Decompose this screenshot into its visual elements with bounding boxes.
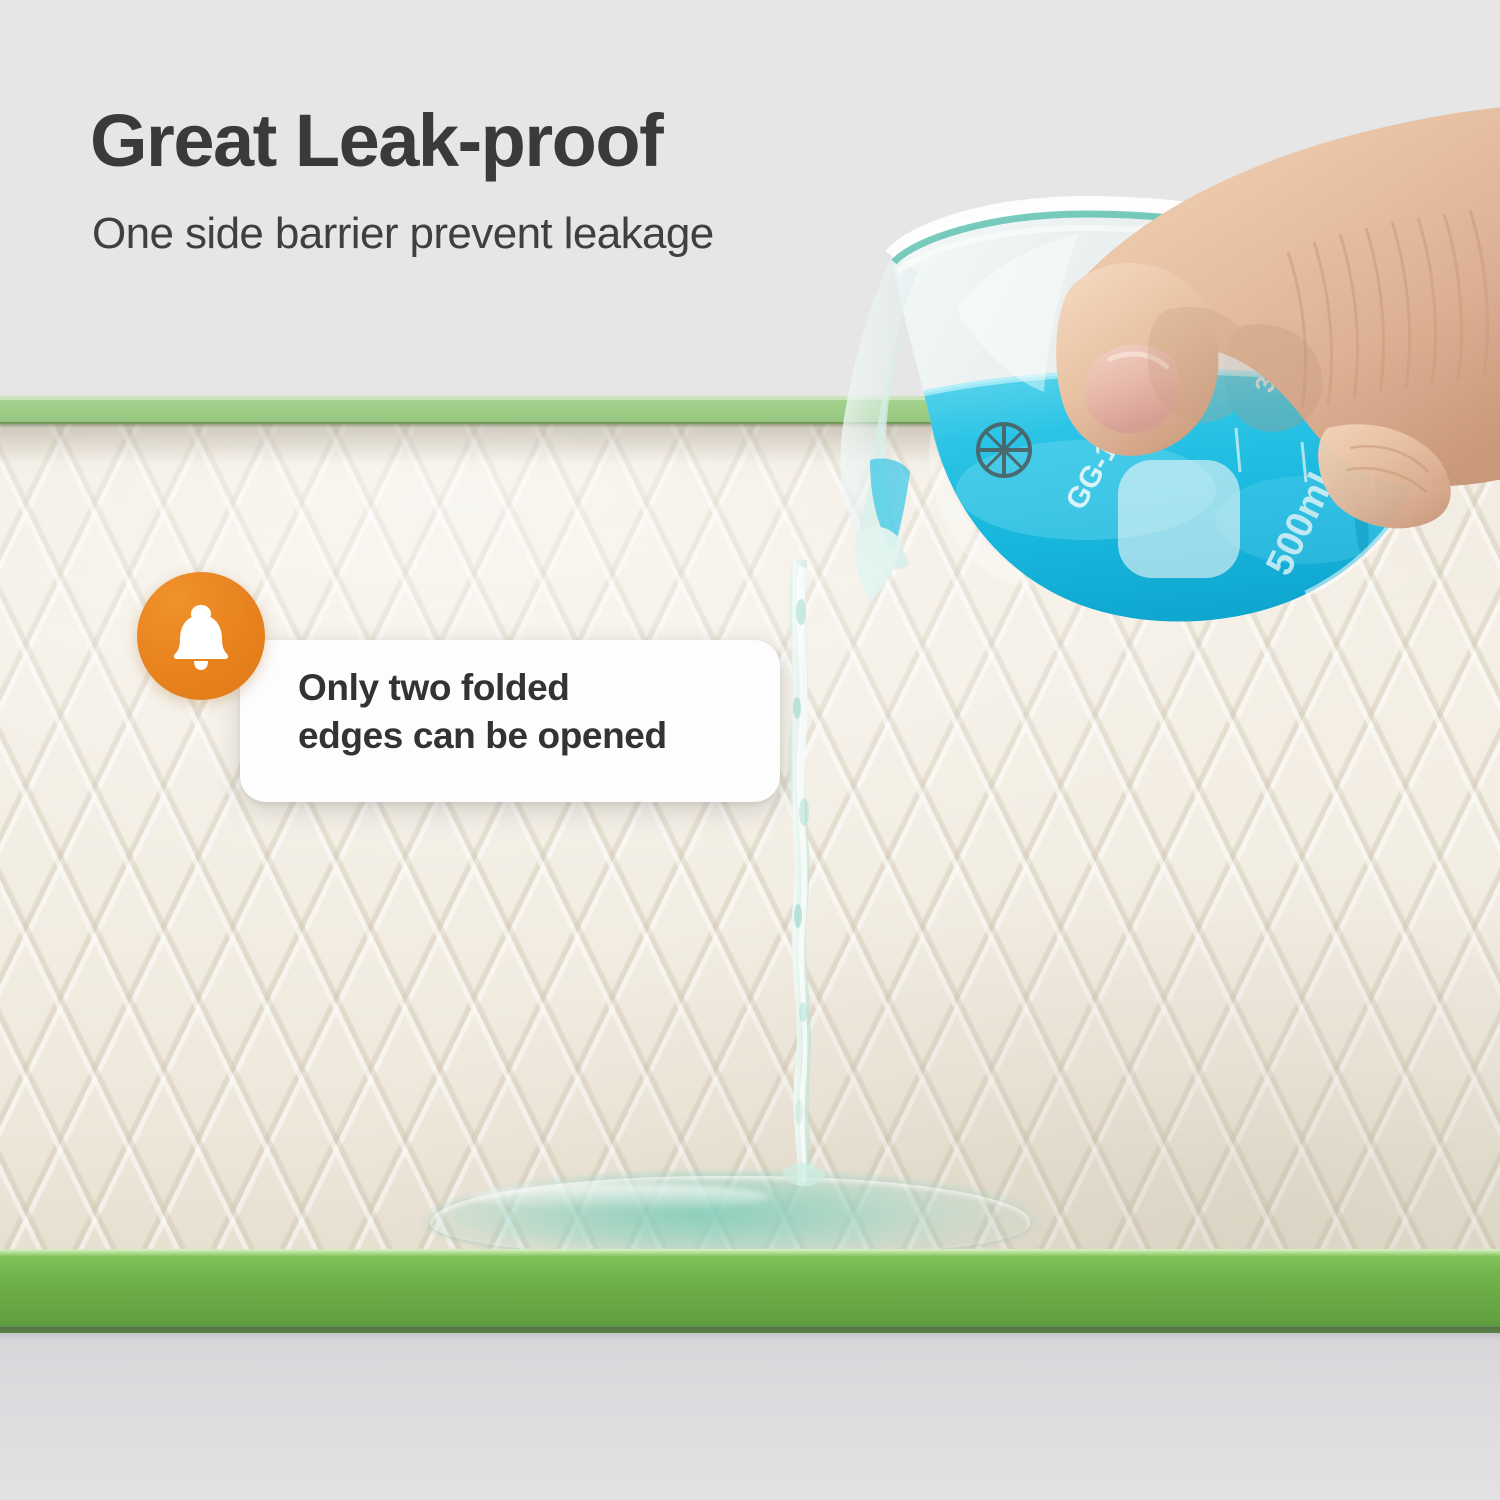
callout-badge	[137, 572, 265, 700]
hand-holding-beaker: 500 APPROX 300 200 100	[836, 160, 1500, 760]
page-title: Great Leak-proof	[90, 104, 662, 178]
callout-text: Only two folded edges can be opened	[298, 664, 768, 760]
water-stream-icon	[776, 560, 810, 1190]
barrier-bottom-highlight	[0, 1249, 1500, 1256]
callout-line-1: Only two folded	[298, 667, 569, 708]
barrier-bottom-edge	[0, 1249, 1500, 1333]
floor-surface	[0, 1330, 1500, 1500]
marketing-image-stage: Great Leak-proof One side barrier preven…	[0, 0, 1500, 1500]
page-subtitle: One side barrier prevent leakage	[92, 212, 714, 256]
beaker-maker-roundel	[978, 424, 1030, 476]
beaker-label-patch	[1118, 460, 1240, 578]
puddle-gloss	[470, 1184, 770, 1210]
callout-line-2: edges can be opened	[298, 712, 768, 760]
pad-drop-shadow	[0, 1326, 1500, 1340]
bell-icon	[168, 601, 234, 671]
